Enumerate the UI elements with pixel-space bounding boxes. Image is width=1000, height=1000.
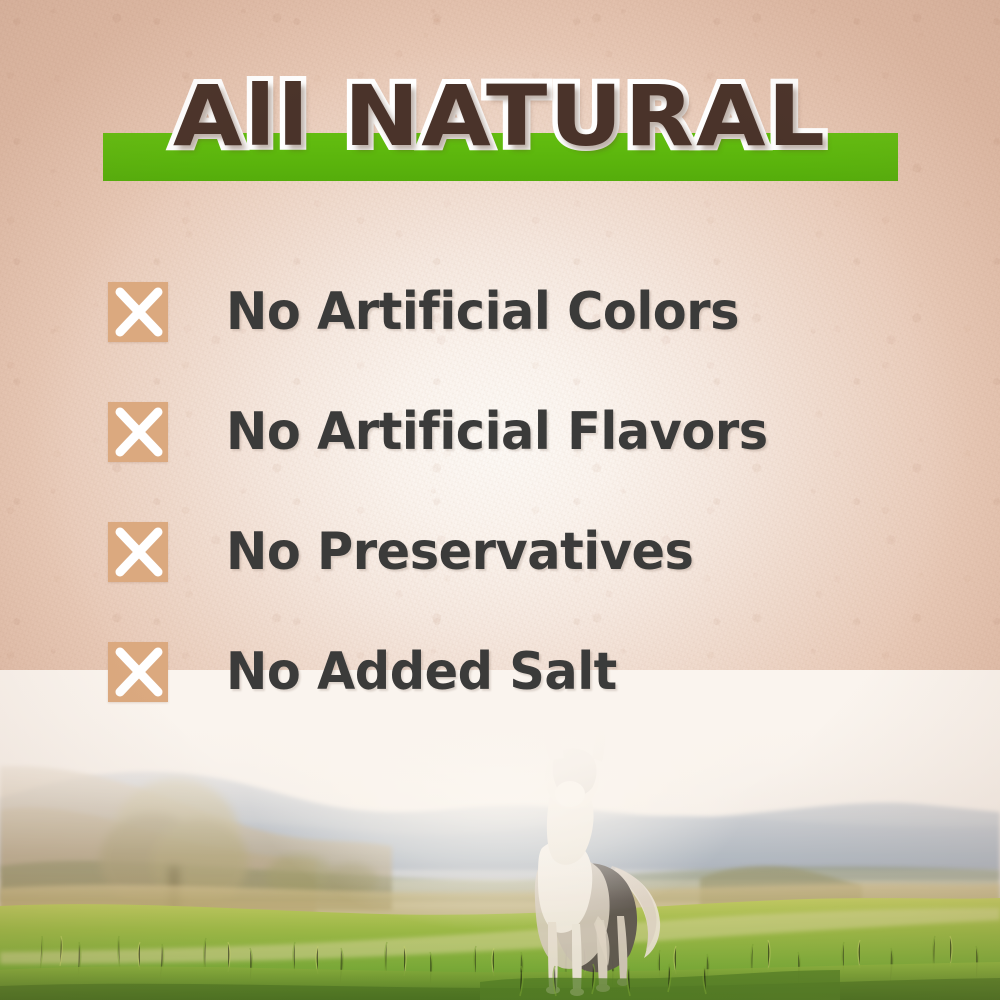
list-item: No Added Salt [0,612,1000,732]
x-mark-icon [108,642,168,702]
claim-label: No Preservatives [226,523,693,581]
headline-banner: All NATURAL [0,62,1000,192]
claim-label: No Added Salt [226,643,617,701]
x-mark-icon [108,522,168,582]
claim-label: No Artificial Flavors [226,403,768,461]
page-title: All NATURAL [0,62,1000,170]
list-item: No Artificial Colors [0,252,1000,372]
list-item: No Artificial Flavors [0,372,1000,492]
claim-label: No Artificial Colors [226,283,739,341]
list-item: No Preservatives [0,492,1000,612]
x-mark-icon [108,282,168,342]
poster-canvas: All NATURAL No Artificial Colors No Arti… [0,0,1000,1000]
claims-list: No Artificial Colors No Artificial Flavo… [0,252,1000,732]
x-mark-icon [108,402,168,462]
